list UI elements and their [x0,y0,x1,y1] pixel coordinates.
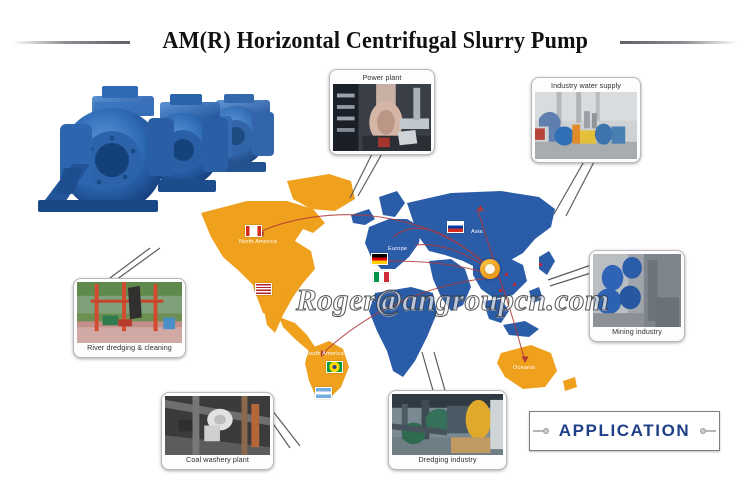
callout-photo-coal-washery-plant [165,396,270,455]
page-title: AM(R) Horizontal Centrifugal Slurry Pump [0,24,750,58]
watermark-text: Roger@angroupcn.com [296,281,696,319]
application-label: APPLICATION [559,421,691,441]
flag-argentina [315,387,332,399]
map-label-north-america: North America [239,239,277,245]
map-label-europe: Europe [388,246,407,252]
flag-canada [245,225,262,237]
callout-caption-river-dredging-cleaning: River dredging & cleaning [77,343,182,354]
map-label-south-america: South America [305,351,344,357]
map-label-oceania: Oceania [513,365,535,371]
flag-brazil [326,361,343,373]
flag-germany [371,253,388,265]
callout-industry-water-supply[interactable]: Industry water supply [531,77,641,163]
flag-russia [447,221,464,233]
callout-photo-power-plant [333,84,431,151]
callout-power-plant[interactable]: Power plant [329,69,435,155]
map-hub-inner-icon [485,264,495,274]
map-pin-3 [539,263,542,266]
callout-river-dredging-cleaning[interactable]: River dredging & cleaning [73,278,186,358]
callout-caption-dredging-industry: Dredging industry [392,455,503,466]
callout-caption-power-plant: Power plant [333,73,431,84]
callout-photo-river-dredging-cleaning [77,282,182,343]
map-pin-1 [505,273,508,276]
badge-ornament-left-icon [533,428,549,434]
badge-ornament-right-icon [700,428,716,434]
callout-photo-dredging-industry [392,394,503,455]
callout-coal-washery-plant[interactable]: Coal washery plant [161,392,274,470]
title-text: AM(R) Horizontal Centrifugal Slurry Pump [149,28,600,55]
title-rule-left-icon [12,41,130,44]
leader-line-river-dredging [106,248,162,282]
callout-caption-industry-water-supply: Industry water supply [535,81,637,92]
application-badge[interactable]: APPLICATION [529,411,720,451]
map-label-asia: Asia [471,229,483,235]
callout-dredging-industry[interactable]: Dredging industry [388,390,507,470]
callout-photo-industry-water-supply [535,92,637,159]
poster-canvas: AM(R) Horizontal Centrifugal Slurry Pump [0,0,750,491]
flag-usa [255,283,272,295]
callout-caption-mining-industry: Mining industry [593,327,681,338]
title-rule-right-icon [620,41,738,44]
callout-caption-coal-washery-plant: Coal washery plant [165,455,270,466]
